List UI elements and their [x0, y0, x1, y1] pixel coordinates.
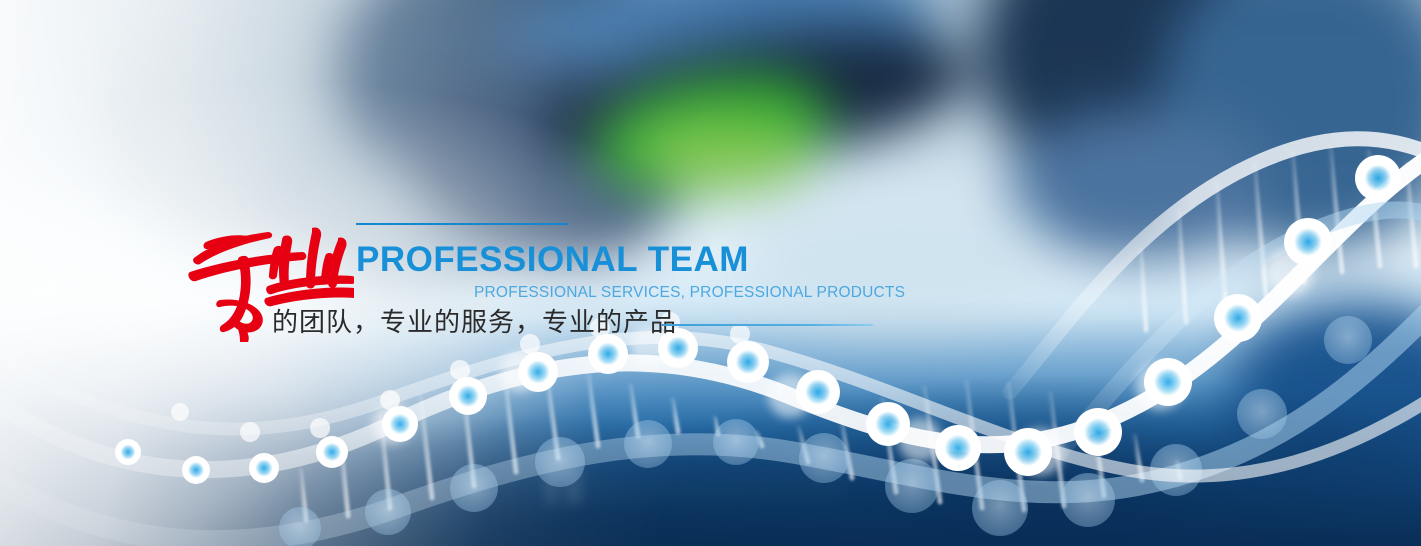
decorative-rule-bottom — [662, 324, 873, 326]
professional-team-banner: PROFESSIONAL TEAM PROFESSIONAL SERVICES,… — [0, 0, 1421, 546]
tagline-chinese: 的团队，专业的服务，专业的产品 — [272, 307, 677, 338]
decorative-rule-top — [356, 223, 568, 225]
banner-content: PROFESSIONAL TEAM PROFESSIONAL SERVICES,… — [0, 0, 1421, 546]
headline-professional-team: PROFESSIONAL TEAM — [356, 242, 749, 277]
subheadline-services-products: PROFESSIONAL SERVICES, PROFESSIONAL PROD… — [474, 285, 905, 301]
